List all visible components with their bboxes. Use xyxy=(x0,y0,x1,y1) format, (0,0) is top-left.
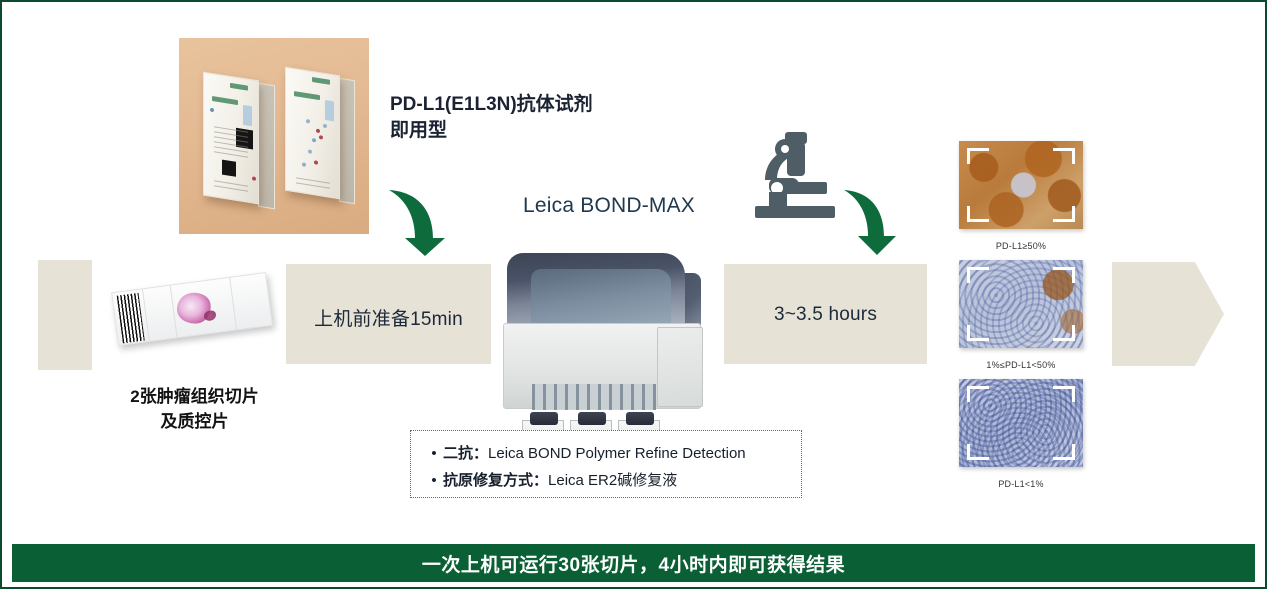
curved-down-arrow-icon-1 xyxy=(385,178,475,258)
slide-divider xyxy=(229,278,237,330)
protocol-detail-value: Leica BOND Polymer Refine Detection xyxy=(488,440,746,467)
protocol-detail-key: 抗原修复方式： xyxy=(443,467,548,494)
reagent-title-line1: PD-L1(E1L3N)抗体试剂 xyxy=(390,92,593,118)
specimen-caption-line1: 2张肿瘤组织切片 xyxy=(97,384,292,409)
reagent-title: PD-L1(E1L3N)抗体试剂 即用型 xyxy=(390,92,593,144)
slide-rack xyxy=(532,384,656,410)
ihc-result-image-low xyxy=(959,379,1083,467)
step-run-box: 3~3.5 hours xyxy=(724,264,927,364)
bullet-icon: • xyxy=(425,440,443,467)
protocol-detail-key: 二抗： xyxy=(443,440,488,467)
ihc-result-image-high xyxy=(959,141,1083,229)
summary-banner-text: 一次上机可运行30张切片，4小时内即可获得结果 xyxy=(422,550,845,577)
bullet-icon: • xyxy=(425,467,443,494)
step-run-label: 3~3.5 hours xyxy=(724,304,927,326)
reagent-box-side xyxy=(339,78,355,205)
leica-bond-max-instrument-photo: LEICABOND-MAX xyxy=(499,249,709,419)
microscope-icon xyxy=(747,130,843,222)
protocol-detail-row: • 抗原修复方式： Leica ER2碱修复液 xyxy=(425,467,787,494)
ihc-result-label-mid: 1%≤PD-L1<50% xyxy=(941,360,1101,370)
chevron-right-shape xyxy=(1112,262,1224,366)
ihc-result-label-high: PD-L1≥50% xyxy=(941,241,1101,251)
specimen-caption: 2张肿瘤组织切片 及质控片 xyxy=(97,384,292,434)
step-prep-label: 上机前准备15min xyxy=(286,304,491,331)
specimen-caption-line2: 及质控片 xyxy=(97,409,292,434)
reagent-box-side xyxy=(258,83,275,210)
tumor-tissue-slide-photo xyxy=(108,268,280,356)
reagent-box-front-right xyxy=(285,67,340,200)
protocol-detail-box: • 二抗： Leica BOND Polymer Refine Detectio… xyxy=(410,430,802,498)
instrument-side-panel xyxy=(657,327,703,407)
instrument-name: Leica BOND-MAX xyxy=(523,194,695,218)
ihc-result-image-mid xyxy=(959,260,1083,348)
reagent-box-front-left xyxy=(203,72,259,205)
workflow-slide: 2张肿瘤组织切片 及质控片 xyxy=(0,0,1267,589)
process-start-block xyxy=(38,260,92,370)
glass-slide xyxy=(111,272,273,346)
summary-banner: 一次上机可运行30张切片，4小时内即可获得结果 xyxy=(12,544,1255,582)
pd-l1-antibody-reagent-boxes-photo xyxy=(179,38,369,234)
step-prep-box: 上机前准备15min xyxy=(286,264,491,364)
instrument-hood xyxy=(507,253,685,327)
drawer-handle-icon xyxy=(530,412,558,425)
protocol-detail-row: • 二抗： Leica BOND Polymer Refine Detectio… xyxy=(425,440,787,467)
curved-down-arrow-icon-2 xyxy=(842,178,922,258)
tissue-section-secondary xyxy=(203,310,216,321)
drawer-handle-icon xyxy=(578,412,606,425)
protocol-detail-value: Leica ER2碱修复液 xyxy=(548,467,677,494)
slide-barcode-icon xyxy=(117,293,145,343)
ihc-result-label-low: PD-L1<1% xyxy=(941,479,1101,489)
instrument-glass-window xyxy=(531,269,671,327)
drawer-handle-icon xyxy=(626,412,654,425)
reagent-title-line2: 即用型 xyxy=(390,118,593,144)
